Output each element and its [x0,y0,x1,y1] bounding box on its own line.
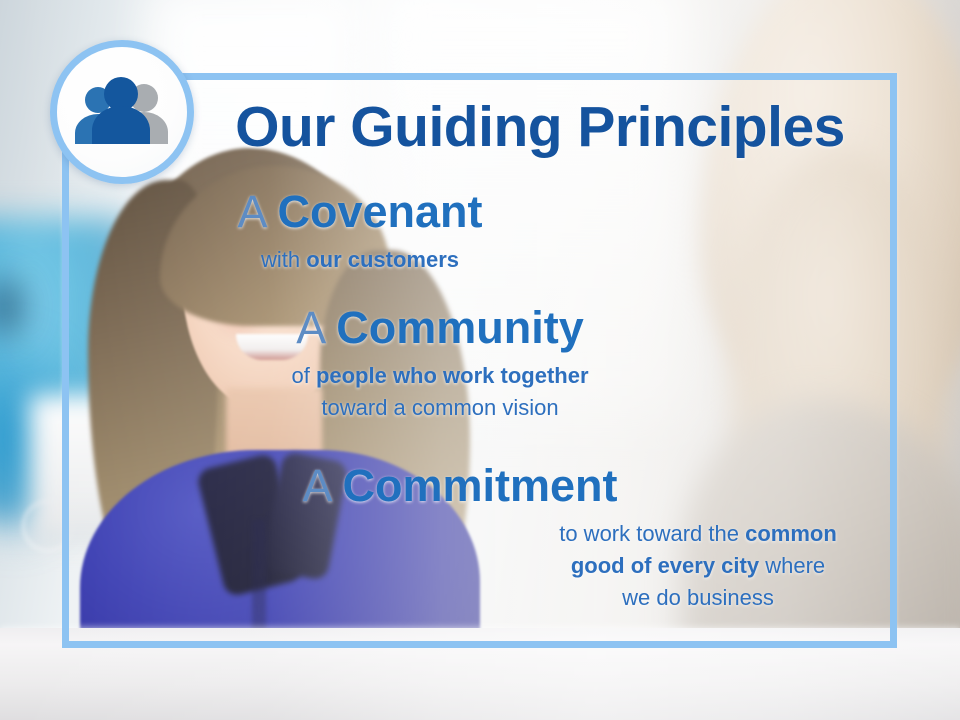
banner-graphic: FLOW AUTOMOTIVE FLOW [0,0,960,720]
people-group-icon [70,76,174,148]
decorative-frame-border [62,73,897,648]
people-group-icon-badge [50,40,194,184]
blurred-vehicle-shadow [0,262,40,352]
